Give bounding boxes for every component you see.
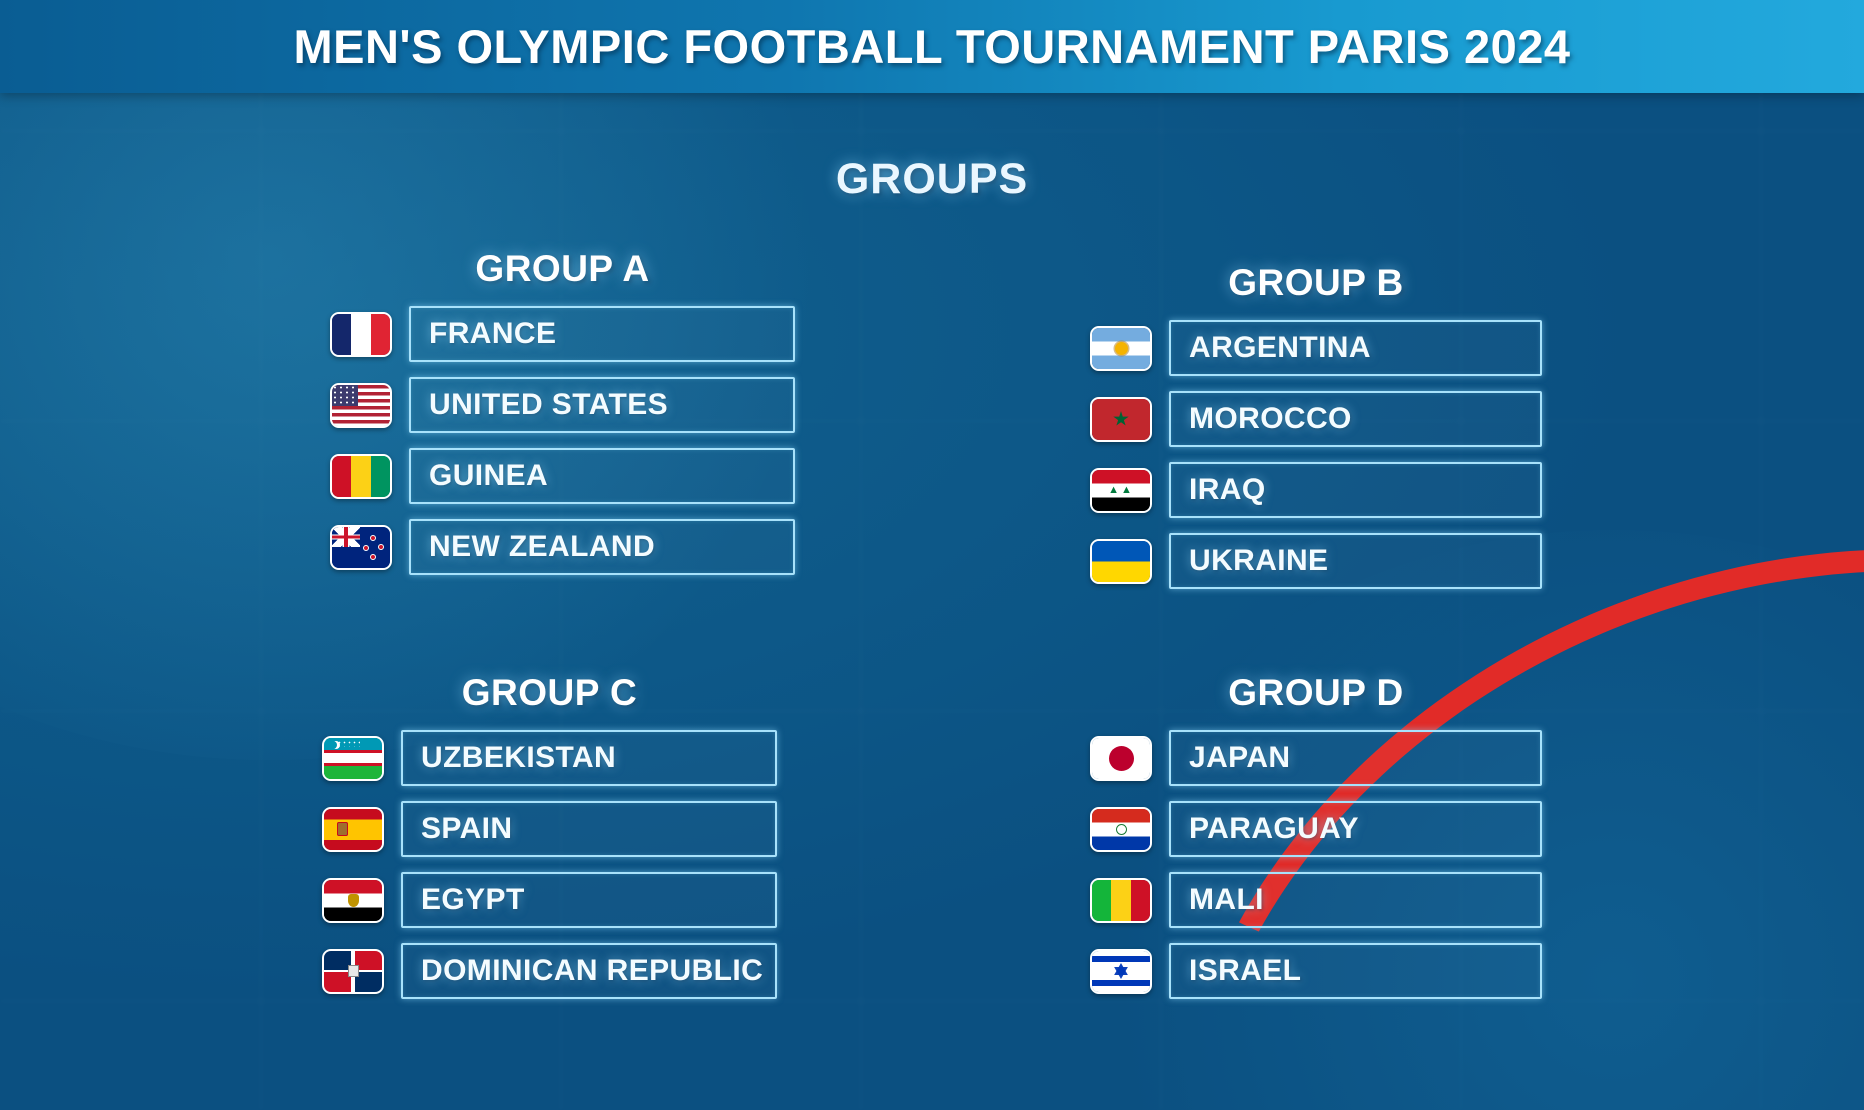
flag-new-zealand-icon — [330, 525, 392, 570]
team-name-box[interactable]: MOROCCO — [1169, 391, 1542, 447]
team-name-box[interactable]: IRAQ — [1169, 462, 1542, 518]
team-name-label: PARAGUAY — [1189, 812, 1359, 846]
flag-uzbekistan-icon — [322, 736, 384, 781]
flag-paraguay-icon — [1090, 807, 1152, 852]
team-name-box[interactable]: SPAIN — [401, 801, 777, 857]
team-name-label: JAPAN — [1189, 741, 1290, 775]
group-b-heading: GROUP B — [1090, 262, 1542, 304]
team-row[interactable]: UKRAINE — [1090, 533, 1542, 589]
team-row[interactable]: ARGENTINA — [1090, 320, 1542, 376]
team-row[interactable]: SPAIN — [322, 801, 777, 857]
team-name-box[interactable]: MALI — [1169, 872, 1542, 928]
team-name-label: DOMINICAN REPUBLIC — [421, 954, 763, 988]
team-name-label: ISRAEL — [1189, 954, 1301, 988]
team-name-label: ARGENTINA — [1189, 331, 1371, 365]
group-c-heading: GROUP C — [322, 672, 777, 714]
flag-france-icon — [330, 312, 392, 357]
team-name-box[interactable]: JAPAN — [1169, 730, 1542, 786]
team-row[interactable]: ISRAEL — [1090, 943, 1542, 999]
team-name-box[interactable]: FRANCE — [409, 306, 795, 362]
team-row[interactable]: FRANCE — [330, 306, 795, 362]
flag-spain-icon — [322, 807, 384, 852]
team-row[interactable]: UNITED STATES — [330, 377, 795, 433]
team-name-label: UNITED STATES — [429, 388, 668, 422]
flag-morocco-icon — [1090, 397, 1152, 442]
team-name-label: MALI — [1189, 883, 1264, 917]
group-d-heading: GROUP D — [1090, 672, 1542, 714]
flag-guinea-icon — [330, 454, 392, 499]
team-name-label: GUINEA — [429, 459, 548, 493]
team-row[interactable]: JAPAN — [1090, 730, 1542, 786]
flag-ukraine-icon — [1090, 539, 1152, 584]
group-block-d: GROUP D JAPAN PARAGUAY MALI — [1090, 672, 1542, 1014]
header-bar: MEN'S OLYMPIC FOOTBALL TOURNAMENT PARIS … — [0, 0, 1864, 93]
team-name-box[interactable]: UZBEKISTAN — [401, 730, 777, 786]
team-name-label: IRAQ — [1189, 473, 1266, 507]
team-row[interactable]: GUINEA — [330, 448, 795, 504]
team-name-label: MOROCCO — [1189, 402, 1352, 436]
team-name-label: EGYPT — [421, 883, 525, 917]
team-name-label: FRANCE — [429, 317, 556, 351]
page-title: MEN'S OLYMPIC FOOTBALL TOURNAMENT PARIS … — [293, 19, 1570, 74]
team-name-box[interactable]: DOMINICAN REPUBLIC — [401, 943, 777, 999]
group-block-c: GROUP C UZBEKISTAN SPAIN — [322, 672, 777, 1014]
flag-japan-icon — [1090, 736, 1152, 781]
flag-egypt-icon — [322, 878, 384, 923]
team-row[interactable]: UZBEKISTAN — [322, 730, 777, 786]
flag-united-states-icon — [330, 383, 392, 428]
tournament-groups-graphic: MEN'S OLYMPIC FOOTBALL TOURNAMENT PARIS … — [0, 0, 1864, 1110]
team-name-label: UZBEKISTAN — [421, 741, 616, 775]
team-name-label: UKRAINE — [1189, 544, 1328, 578]
team-name-label: NEW ZEALAND — [429, 530, 655, 564]
flag-argentina-icon — [1090, 326, 1152, 371]
team-row[interactable]: NEW ZEALAND — [330, 519, 795, 575]
team-row[interactable]: EGYPT — [322, 872, 777, 928]
group-block-a: GROUP A FRANCE UNITED STATES GUINEA — [330, 248, 795, 590]
flag-mali-icon — [1090, 878, 1152, 923]
team-name-box[interactable]: PARAGUAY — [1169, 801, 1542, 857]
team-row[interactable]: MALI — [1090, 872, 1542, 928]
group-block-b: GROUP B ARGENTINA MOROCCO ▲▲ IRAQ — [1090, 262, 1542, 604]
flag-israel-icon — [1090, 949, 1152, 994]
flag-dominican-republic-icon — [322, 949, 384, 994]
team-name-box[interactable]: ARGENTINA — [1169, 320, 1542, 376]
team-row[interactable]: DOMINICAN REPUBLIC — [322, 943, 777, 999]
team-row[interactable]: ▲▲ IRAQ — [1090, 462, 1542, 518]
section-title: GROUPS — [0, 155, 1864, 204]
team-row[interactable]: MOROCCO — [1090, 391, 1542, 447]
team-row[interactable]: PARAGUAY — [1090, 801, 1542, 857]
flag-iraq-icon: ▲▲ — [1090, 468, 1152, 513]
group-a-heading: GROUP A — [330, 248, 795, 290]
team-name-box[interactable]: GUINEA — [409, 448, 795, 504]
team-name-label: SPAIN — [421, 812, 512, 846]
team-name-box[interactable]: ISRAEL — [1169, 943, 1542, 999]
team-name-box[interactable]: EGYPT — [401, 872, 777, 928]
team-name-box[interactable]: UKRAINE — [1169, 533, 1542, 589]
team-name-box[interactable]: NEW ZEALAND — [409, 519, 795, 575]
team-name-box[interactable]: UNITED STATES — [409, 377, 795, 433]
